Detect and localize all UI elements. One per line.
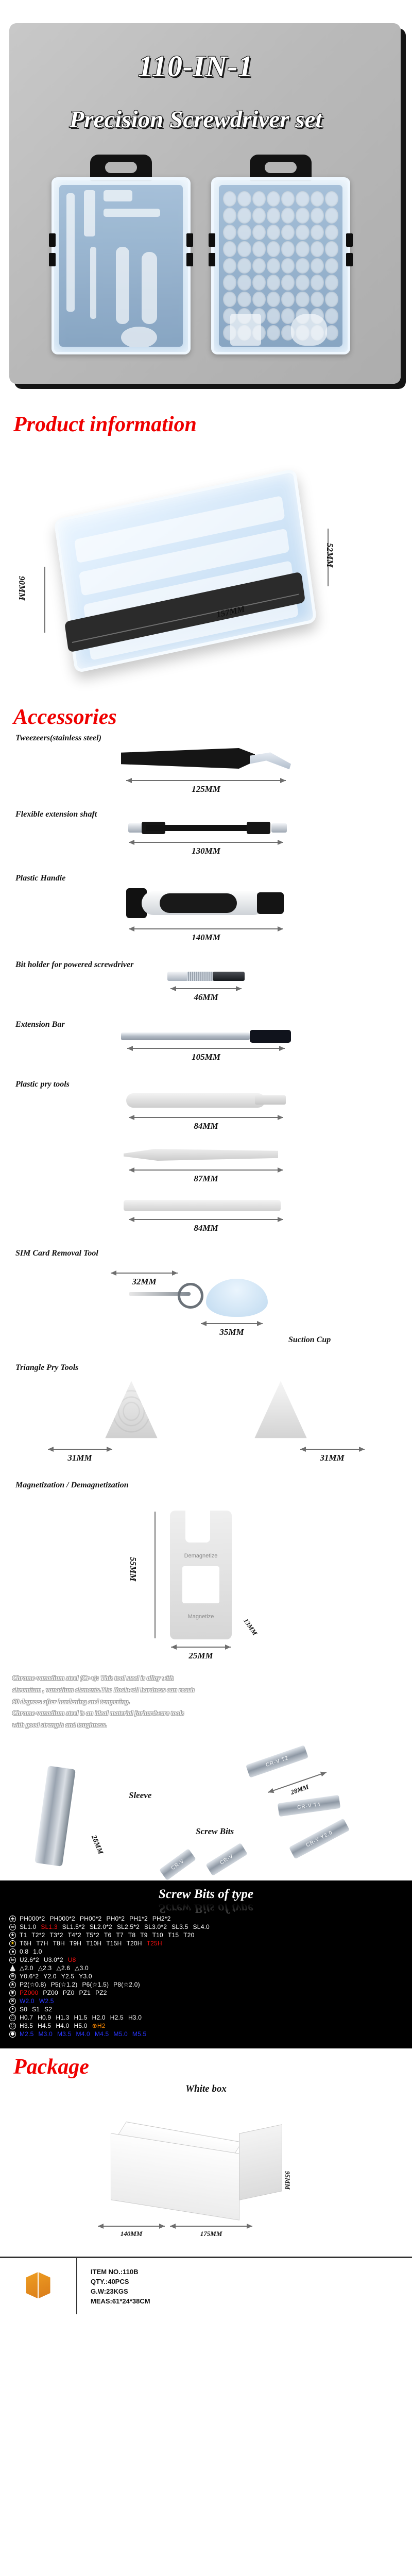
bit-slot	[252, 275, 266, 290]
bit-slot	[267, 258, 280, 274]
bit-slot	[267, 241, 280, 257]
bit-token: H5.0	[74, 2022, 87, 2029]
bit-slot	[325, 308, 338, 324]
accessory-label: Plastic Handie	[0, 870, 412, 883]
accessory-plastic-handle: Plastic Handie 140MM	[0, 870, 412, 943]
phillips-icon	[9, 1916, 16, 1922]
bit-slot	[325, 191, 338, 207]
accessory-plastic-pry-tools: Plastic pry tools 84MM	[0, 1076, 412, 1131]
accessory-dimension: 105MM	[192, 1052, 220, 1062]
bit-token-group: M2.5M3.0M3.5M4.0M4.5M5.0M5.5	[20, 2030, 146, 2038]
bit-row: T1T2*2T3*2T4*2T5*2T6T7T8T9T10T15T20	[0, 1931, 412, 1939]
accessory-dimension: 46MM	[194, 992, 218, 1003]
bit-token: PH000*2	[49, 1915, 75, 1922]
bit-list-title-reflection: Screw Bits of type	[0, 1901, 412, 1914]
bit-token: M3.0	[38, 2030, 52, 2038]
bit-token: SL2.0*2	[90, 1923, 112, 1930]
screw-bit-mark: CR-V Y2.0	[289, 1818, 350, 1859]
suction-cup-image	[206, 1279, 268, 1317]
spec-item-no: ITEM NO.:110B	[91, 2268, 412, 2276]
dim-mag-width: 25MM	[171, 1645, 231, 1661]
accessory-pry-tool-87mm: 87MM	[0, 1145, 412, 1184]
accessory-bit-holder: Bit holder for powered screwdriver 46MM	[0, 956, 412, 1003]
bit-token: T6H	[20, 1940, 31, 1947]
screw-bit-type-list: Screw Bits of type Screw Bits of type PH…	[0, 1880, 412, 2049]
bit-token: M4.0	[76, 2030, 90, 2038]
bit-slot	[252, 225, 266, 240]
screw-bits-label: Screw Bits	[196, 1826, 234, 1837]
bit-slot	[252, 258, 266, 274]
bit-token: H2.5	[110, 2014, 124, 2021]
bit-token-group: PZ000PZ00PZ0PZ1PZ2	[20, 1989, 107, 1996]
bit-token-group: H0.7H0.9H1.3H1.5H2.0H2.5H3.0	[20, 2014, 142, 2021]
accessory-image	[0, 1089, 412, 1112]
bit-token: △2.3	[38, 1964, 52, 1972]
bit-slot	[311, 258, 324, 274]
screw-bit-mark: CR-V T2	[246, 1745, 308, 1778]
bit-token: H4.0	[56, 2022, 69, 2029]
bit-row: 0.81.0	[0, 1947, 412, 1956]
bit-slot	[311, 225, 324, 240]
bit-slot	[281, 275, 295, 290]
bit-token: PZ0	[63, 1989, 75, 1996]
bit-token: △2.6	[56, 1964, 70, 1972]
bit-token: PZ2	[95, 1989, 107, 1996]
magnetizer-image: Demagnetize Magnetize	[170, 1511, 232, 1639]
bit-token: T3*2	[50, 1931, 63, 1939]
case-interior	[219, 185, 342, 347]
bit-token: SL1.5*2	[62, 1923, 85, 1930]
bit-slot	[281, 191, 295, 207]
bit-token: Y0.6*2	[20, 1973, 39, 1980]
bit-slot	[311, 292, 324, 307]
bit-token-group: Y0.6*2Y2.0Y2.5Y3.0	[20, 1973, 92, 1980]
dim-box-width: 175MM	[170, 2224, 252, 2238]
bit-token: M4.5	[95, 2030, 109, 2038]
bit-token: H1.3	[56, 2014, 69, 2021]
bit-row: W2.0W2.5	[0, 1997, 412, 2005]
bit-token: T10	[152, 1931, 163, 1939]
bit-token-group: T6HT7HT8HT9HT10HT15HT20HT25H	[20, 1940, 162, 1947]
bit-token: Y2.0	[43, 1973, 57, 1980]
bit-token: SL1.3	[41, 1923, 57, 1930]
bit-token: P5(☆1.2)	[51, 1981, 78, 1988]
bit-slot	[223, 275, 236, 290]
accessory-label: Tweezeers(stainless steel)	[0, 730, 412, 743]
product-listing-page: 110-IN-1 Precision Screwdriver set	[0, 0, 412, 2314]
bit-token: H2.0	[92, 2014, 106, 2021]
bit-token: PH000*2	[20, 1915, 45, 1922]
accessory-label: Extension Bar	[0, 1016, 412, 1029]
pentalobe-icon	[9, 1948, 16, 1955]
bit-token: W2.0	[20, 1997, 35, 2005]
sleeve-dimension: 28MM	[89, 1834, 104, 1856]
bit-slot	[237, 292, 251, 307]
bit-token: PH0*2	[106, 1915, 125, 1922]
bit-token: T4*2	[68, 1931, 81, 1939]
bit-slot	[296, 208, 309, 223]
dim-label-depth: 90MM	[16, 576, 27, 600]
sleeve-and-bits-figure: Sleeve 28MM CR-V T2 28MM Screw Bits CR-V…	[0, 1736, 412, 1880]
bit-token: T9H	[70, 1940, 81, 1947]
hero-title: 110-IN-1	[0, 49, 391, 83]
accessory-dimension: 125MM	[192, 784, 220, 794]
bit-slot	[237, 208, 251, 223]
hex-icon	[9, 2014, 16, 2021]
bit-token: SL3.5	[171, 1923, 188, 1930]
bit-slot	[296, 225, 309, 240]
bit-slot	[267, 225, 280, 240]
screw-bit-mark: CR-V	[159, 1849, 196, 1880]
material-note: Chrome-vanadium steel (Cr-v): This tool …	[0, 1665, 412, 1736]
material-note-line: with good strength and toughness.	[12, 1719, 400, 1731]
bit-row: Y0.6*2Y2.0Y2.5Y3.0	[0, 1972, 412, 1980]
section-heading-accessories: Accessories	[0, 705, 412, 730]
bit-token: M3.5	[57, 2030, 71, 2038]
pentalobe-star-icon	[9, 1981, 16, 1988]
accessory-image	[0, 819, 412, 837]
bit-token: T25H	[147, 1940, 162, 1947]
tool-case-left	[51, 155, 191, 355]
bit-slot	[296, 191, 309, 207]
bit-slot	[237, 258, 251, 274]
accessory-label: Plastic pry tools	[0, 1076, 412, 1089]
sleeve-image	[35, 1766, 76, 1867]
sleeve-label: Sleeve	[129, 1790, 151, 1801]
case-body	[211, 177, 350, 354]
torx-icon	[9, 1932, 16, 1939]
bit-slot	[252, 191, 266, 207]
case-body	[51, 177, 191, 354]
bit-slot	[223, 208, 236, 223]
tri-wing-icon	[9, 1973, 16, 1980]
bit-token: T15H	[106, 1940, 122, 1947]
bit-token-group: T1T2*2T3*2T4*2T5*2T6T7T8T9T10T15T20	[20, 1931, 195, 1939]
bit-token: M5.5	[132, 2030, 146, 2038]
bit-token: M5.0	[113, 2030, 127, 2038]
bit-token: T7H	[36, 1940, 48, 1947]
bit-slot	[267, 292, 280, 307]
bit-token: H1.5	[74, 2014, 87, 2021]
dim-line-depth	[44, 567, 45, 633]
accessory-label: Magnetization / Demagnetization	[0, 1477, 412, 1490]
bit-token: T10H	[86, 1940, 101, 1947]
bit-token-group: S0S1S2	[20, 2006, 52, 2013]
bit-slot	[267, 208, 280, 223]
bit-token: U2.6*2	[20, 1956, 39, 1963]
bit-token: T1	[20, 1931, 27, 1939]
bit-token-group: △2.0△2.3△2.6△3.0	[20, 1964, 89, 1972]
bit-slot	[325, 275, 338, 290]
bit-slot	[325, 292, 338, 307]
bit-token: T9	[140, 1931, 147, 1939]
accessory-extension-bar: Extension Bar 105MM	[0, 1016, 412, 1062]
bit-token: S0	[20, 2006, 27, 2013]
accessory-tweezers: Tweezeers(stainless steel) 125MM	[0, 730, 412, 794]
product-information-figure: 52MM 90MM 157MM	[0, 437, 412, 705]
bit-token: PZ000	[20, 1989, 38, 1996]
bit-token: H3.5	[20, 2022, 33, 2029]
bit-token: U3.0*2	[44, 1956, 63, 1963]
bit-slot	[267, 191, 280, 207]
material-note-line: Chrome-vanadium steel is an ideal materi…	[12, 1707, 400, 1719]
bit-token: H4.5	[38, 2022, 51, 2029]
triangle-icon	[9, 1965, 16, 1972]
bit-token: T8	[128, 1931, 135, 1939]
accessory-pry-tool-84mm: 84MM	[0, 1197, 412, 1233]
bit-token: T20H	[126, 1940, 142, 1947]
wing-icon	[9, 1998, 16, 2005]
triangle-pry-tool-ringed	[103, 1380, 160, 1440]
torx-security-icon	[9, 1940, 16, 1947]
accessory-image	[0, 883, 412, 923]
bit-slot	[281, 292, 295, 307]
bit-row: H3.5H4.5H4.0H5.0⊕H2	[0, 2022, 412, 2030]
material-note-line: Chrome-vanadium steel (Cr-v): This tool …	[12, 1672, 400, 1684]
spec-list: ITEM NO.:110B QTY.:40PCS G.W:23KGS MEAS:…	[77, 2258, 412, 2314]
bit-row: H0.7H0.9H1.3H1.5H2.0H2.5H3.0	[0, 2013, 412, 2022]
bit-slot	[281, 208, 295, 223]
package-box-figure: 140MM 175MM 95MM	[0, 2095, 412, 2249]
bit-slot	[252, 241, 266, 257]
case-interior	[59, 185, 183, 347]
bit-token-group: PH000*2PH000*2PH00*2PH0*2PH1*2PH2*2	[20, 1915, 171, 1922]
slotted-icon	[9, 1924, 16, 1930]
material-note-line: 60 degrees after hardening and tempering…	[12, 1696, 400, 1708]
demagnetize-label: Demagnetize	[170, 1553, 232, 1559]
nut-driver-icon	[9, 2031, 16, 2038]
bit-token: PH2*2	[152, 1915, 171, 1922]
bit-slot	[311, 191, 324, 207]
bit-row: U2.6*2U3.0*2U8	[0, 1956, 412, 1964]
bit-token-group: H3.5H4.5H4.0H5.0⊕H2	[20, 2022, 106, 2029]
hero-cases	[31, 155, 371, 361]
hero-banner: 110-IN-1 Precision Screwdriver set	[0, 0, 412, 412]
bit-slot	[267, 275, 280, 290]
spec-qty: QTY.:40PCS	[91, 2278, 412, 2285]
bit-slot	[311, 275, 324, 290]
dim-line-mag-height	[154, 1512, 156, 1638]
bit-row: SL1.0SL1.3SL1.5*2SL2.0*2SL2.5*2SL3.0*2SL…	[0, 1923, 412, 1931]
bit-token-group: P2(☆0.8)P5(☆1.2)P6(☆1.5)P8(☆2.0)	[20, 1981, 140, 1988]
bit-slot	[296, 275, 309, 290]
bit-slot	[325, 258, 338, 274]
bit-slot	[281, 241, 295, 257]
bit-token: T2*2	[31, 1931, 45, 1939]
bit-token: T20	[183, 1931, 194, 1939]
dim-label-height: 52MM	[324, 543, 335, 567]
bit-row: P2(☆0.8)P5(☆1.2)P6(☆1.5)P8(☆2.0)	[0, 1980, 412, 1989]
accessory-image	[0, 1197, 412, 1214]
bit-token: △3.0	[75, 1964, 89, 1972]
accessory-image	[0, 1145, 412, 1164]
bit-token-group: U2.6*2U3.0*2U8	[20, 1956, 76, 1963]
bit-token: T7	[116, 1931, 123, 1939]
bit-token: H0.7	[20, 2014, 33, 2021]
accessory-image	[0, 1029, 412, 1043]
bit-slot	[223, 258, 236, 274]
bit-slot	[281, 225, 295, 240]
bit-slot	[252, 208, 266, 223]
bit-token: Y3.0	[79, 1973, 92, 1980]
package-spec-footer: ITEM NO.:110B QTY.:40PCS G.W:23KGS MEAS:…	[0, 2257, 412, 2314]
accessory-dimension: 31MM	[67, 1453, 92, 1463]
dim-35mm: 35MM	[201, 1321, 263, 1337]
bit-slot	[325, 241, 338, 257]
accessory-image	[0, 970, 412, 983]
bit-token: △2.0	[20, 1964, 33, 1972]
bit-slot	[296, 258, 309, 274]
bit-token: M2.5	[20, 2030, 33, 2038]
dim-label-mag-height: 55MM	[128, 1557, 138, 1581]
bit-slot	[252, 292, 266, 307]
bit-token: SL2.5*2	[117, 1923, 140, 1930]
bit-slot	[223, 225, 236, 240]
bit-row: S0S1S2	[0, 2005, 412, 2013]
bit-slot	[325, 225, 338, 240]
section-heading-package: Package	[0, 2055, 412, 2079]
bit-slot	[237, 191, 251, 207]
bit-token: T6	[104, 1931, 111, 1939]
bit-slot	[267, 325, 280, 341]
bit-slot	[237, 275, 251, 290]
hex-icon	[9, 2023, 16, 2029]
accessory-triangle-pry-tools: Triangle Pry Tools 31MM 31MM	[0, 1359, 412, 1463]
white-box-image	[111, 2122, 281, 2212]
bit-row: T6HT7HT8HT9HT10HT15HT20HT25H	[0, 1939, 412, 1947]
accessory-label: Flexible extension shaft	[0, 806, 412, 819]
triangle-pry-tool-plain	[252, 1380, 309, 1440]
bit-rows: PH000*2PH000*2PH00*2PH0*2PH1*2PH2*2SL1.0…	[0, 1914, 412, 2038]
tool-case-right	[211, 155, 350, 355]
bit-row: △2.0△2.3△2.6△3.0	[0, 1964, 412, 1972]
bit-token: Y2.5	[61, 1973, 75, 1980]
bit-row: PH000*2PH000*2PH00*2PH0*2PH1*2PH2*2	[0, 1914, 412, 1923]
bit-token: U8	[68, 1956, 76, 1963]
key-ring-icon	[178, 1283, 203, 1309]
bit-token-group: W2.0W2.5	[20, 1997, 54, 2005]
bit-token: T15	[168, 1931, 179, 1939]
bit-slot	[311, 241, 324, 257]
dim-box-height: 95MM	[283, 2171, 291, 2190]
bit-token: 1.0	[33, 1948, 42, 1955]
bit-slot	[281, 258, 295, 274]
bit-row: PZ000PZ00PZ0PZ1PZ2	[0, 1989, 412, 1997]
bit-slot	[223, 292, 236, 307]
bit-token: SL1.0	[20, 1923, 36, 1930]
hero-subtitle: Precision Screwdriver set	[0, 106, 391, 133]
accessory-label-suction-cup: Suction Cup	[288, 1335, 331, 1345]
accessory-image	[0, 743, 412, 775]
bit-list-title: Screw Bits of type Screw Bits of type	[0, 1888, 412, 1915]
accessory-sim-card-removal-tool: SIM Card Removal Tool 32MM 35MM Suction …	[0, 1245, 412, 1356]
bit-token: PH00*2	[80, 1915, 102, 1922]
accessory-dimension: 31MM	[320, 1453, 344, 1463]
bit-slot	[223, 241, 236, 257]
bit-slot	[223, 191, 236, 207]
bit-token: T8H	[53, 1940, 65, 1947]
bit-token: H0.9	[38, 2014, 51, 2021]
spec-gross-weight: G.W:23KGS	[91, 2287, 412, 2295]
carton-logo-icon	[20, 2268, 56, 2304]
accessory-label: Bit holder for powered screwdriver	[0, 956, 412, 970]
section-heading-product-information: Product information	[0, 412, 412, 437]
bit-token: SL3.0*2	[144, 1923, 167, 1930]
package-box-label: White box	[0, 2083, 412, 2095]
accessory-label: Triangle Pry Tools	[0, 1359, 412, 1372]
pozidriv-icon	[9, 1990, 16, 1996]
bit-list-title-text: Screw Bits of type	[159, 1887, 253, 1901]
magnetize-label: Magnetize	[170, 1614, 232, 1620]
bit-slot	[296, 241, 309, 257]
bit-token: ⊕H2	[92, 2022, 106, 2029]
bit-token: PZ1	[79, 1989, 91, 1996]
bit-slot	[237, 241, 251, 257]
bit-token: 0.8	[20, 1948, 28, 1955]
bit-row: M2.5M3.0M3.5M4.0M4.5M5.0M5.5	[0, 2030, 412, 2038]
accessory-dimension: 84MM	[194, 1121, 218, 1131]
bit-token: P8(☆2.0)	[113, 1981, 140, 1988]
bit-token: P6(☆1.5)	[82, 1981, 109, 1988]
accessory-dimension: 84MM	[194, 1223, 218, 1233]
bit-token: S2	[44, 2006, 52, 2013]
bit-token: T5*2	[86, 1931, 99, 1939]
bit-token: H3.0	[128, 2014, 142, 2021]
u-shape-icon	[9, 1957, 16, 1963]
bit-slot	[267, 308, 280, 324]
bit-token-group: SL1.0SL1.3SL1.5*2SL2.0*2SL2.5*2SL3.0*2SL…	[20, 1923, 210, 1930]
accessory-flexible-extension-shaft: Flexible extension shaft 130MM	[0, 806, 412, 856]
dim-32mm: 32MM	[111, 1270, 178, 1287]
brand-logo	[0, 2258, 77, 2314]
bit-slot	[296, 292, 309, 307]
screw-bit-mark: CR-V	[205, 1843, 248, 1876]
bit-slot	[325, 208, 338, 223]
accessory-dimension: 130MM	[192, 846, 220, 856]
bit-token: W2.5	[39, 1997, 54, 2005]
bit-token: PH1*2	[129, 1915, 148, 1922]
package-section: White box 140MM 175MM 95MM	[0, 2083, 412, 2249]
accessory-label: SIM Card Removal Tool	[0, 1245, 412, 1258]
accessory-dimension: 87MM	[194, 1174, 218, 1184]
bit-token: S1	[32, 2006, 40, 2013]
bit-token: P2(☆0.8)	[20, 1981, 46, 1988]
bit-slot	[237, 225, 251, 240]
accessory-image	[0, 1380, 412, 1440]
bit-slot	[311, 208, 324, 223]
accessory-dimension: 140MM	[192, 933, 220, 943]
square-icon	[9, 2006, 16, 2013]
dim-box-depth: 140MM	[98, 2224, 165, 2238]
bit-token-group: 0.81.0	[20, 1948, 42, 1955]
bit-token: PZ00	[43, 1989, 58, 1996]
dim-label-mag-depth: 13MM	[242, 1617, 259, 1637]
material-note-line: chromium , vanadium elements.The Rockwel…	[12, 1684, 400, 1696]
bit-token: SL4.0	[193, 1923, 210, 1930]
accessory-magnetizer: Magnetization / Demagnetization Demagnet…	[0, 1477, 412, 1665]
spec-measurement: MEAS:61*24*38CM	[91, 2297, 412, 2305]
